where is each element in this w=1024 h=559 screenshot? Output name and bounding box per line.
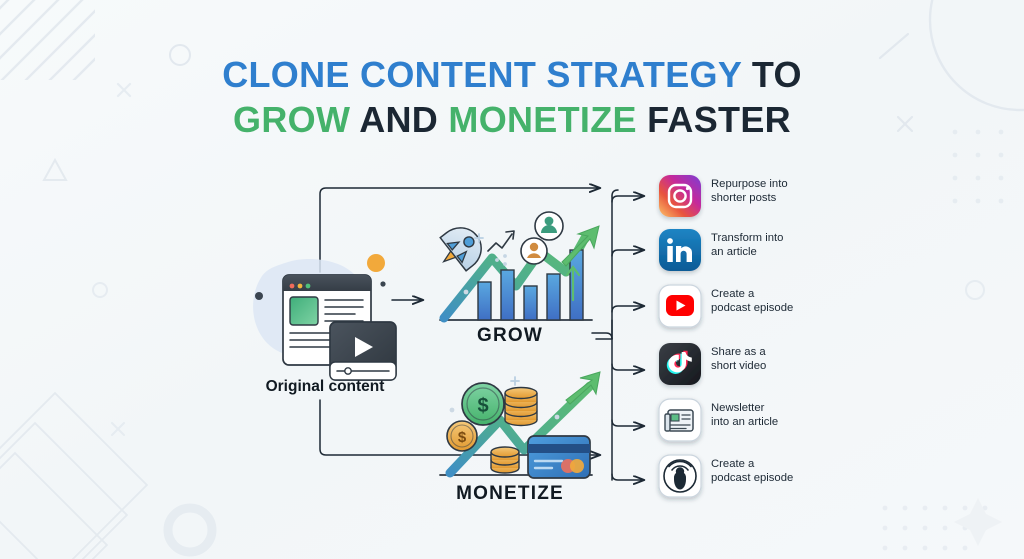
channel-line1-linkedin: Transform into xyxy=(711,232,836,246)
connector-branch-2 xyxy=(612,250,644,256)
dot-orange xyxy=(367,254,385,272)
title-line-1: CLONE CONTENT STRATEGY TO xyxy=(0,52,1024,97)
tiktok-icon[interactable] xyxy=(659,343,701,385)
channel-label-linkedin: Transform into an article xyxy=(711,232,836,259)
original-content-illustration xyxy=(253,254,396,380)
connector-branch-1 xyxy=(612,196,644,202)
coin-stack-short-icon xyxy=(491,447,519,473)
channel-line2-podcast: podcast episode xyxy=(711,472,836,486)
title-line-2: GROW AND MONETIZE FASTER xyxy=(0,97,1024,142)
connector-branch-6 xyxy=(612,474,644,480)
page-title: CLONE CONTENT STRATEGY TO GROW AND MONET… xyxy=(0,52,1024,142)
dot-decoration-grow xyxy=(464,290,469,295)
connector-trunk-top xyxy=(612,190,618,196)
channel-line2-newsletter: into an article xyxy=(711,416,836,430)
channel-line2-linkedin: an article xyxy=(711,246,836,260)
connector-branch-5 xyxy=(612,420,644,426)
dot-dark xyxy=(255,292,263,300)
grow-label: GROW xyxy=(410,325,610,347)
mini-zigzag-arrow xyxy=(488,234,512,251)
channel-label-newsletter: Newsletter into an article xyxy=(711,402,836,429)
channel-line2-youtube: podcast episode xyxy=(711,302,836,316)
channel-label-tiktok: Share as a short video xyxy=(711,346,836,373)
svg-text:$: $ xyxy=(458,429,467,446)
grow-illustration xyxy=(431,212,604,320)
newsletter-icon[interactable] xyxy=(659,399,701,441)
instagram-icon[interactable] xyxy=(659,175,701,217)
youtube-icon[interactable] xyxy=(659,285,701,327)
user-avatar-icon-2 xyxy=(535,212,563,240)
credit-card-icon xyxy=(528,436,590,478)
channel-line2-tiktok: short video xyxy=(711,360,836,374)
connector-branch-3 xyxy=(612,306,644,312)
user-avatar-icon-1 xyxy=(521,238,547,264)
channel-line1-instagram: Repurpose into xyxy=(711,178,836,192)
svg-text:$: $ xyxy=(477,395,488,417)
title-part-clone-content-strategy: CLONE CONTENT STRATEGY xyxy=(222,54,752,95)
monetize-label: MONETIZE xyxy=(410,483,610,505)
dollar-coin-orange-icon: $ xyxy=(447,421,477,451)
title-part-grow: GROW xyxy=(233,99,359,140)
channel-label-youtube: Create a podcast episode xyxy=(711,288,836,315)
channel-line1-podcast: Create a xyxy=(711,458,836,472)
title-part-faster: FASTER xyxy=(647,99,791,140)
channel-label-podcast: Create a podcast episode xyxy=(711,458,836,485)
dot-decoration-monetize-1 xyxy=(450,408,455,413)
dot-dark-small xyxy=(380,281,385,286)
original-content-label: Original content xyxy=(0,378,650,396)
channel-line1-newsletter: Newsletter xyxy=(711,402,836,416)
dot-decoration-monetize-2 xyxy=(555,415,560,420)
title-part-to: TO xyxy=(752,54,802,95)
channel-line2-instagram: shorter posts xyxy=(711,192,836,206)
title-part-and: AND xyxy=(359,99,448,140)
title-part-monetize: MONETIZE xyxy=(448,99,647,140)
video-player-icon xyxy=(330,322,396,380)
linkedin-icon[interactable] xyxy=(659,229,701,271)
connector-branch-4 xyxy=(612,364,644,370)
channel-label-instagram: Repurpose into shorter posts xyxy=(711,178,836,205)
channel-line1-tiktok: Share as a xyxy=(711,346,836,360)
podcast-icon[interactable] xyxy=(659,455,701,497)
channel-line1-youtube: Create a xyxy=(711,288,836,302)
